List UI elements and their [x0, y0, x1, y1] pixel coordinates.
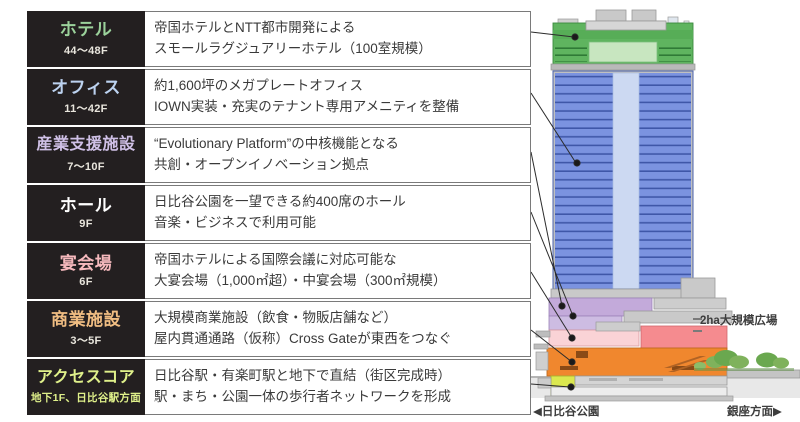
legend-floors: 44〜48F [64, 42, 108, 58]
legend-name: 産業支援施設 [36, 136, 135, 154]
legend-row-industry-support[interactable]: 産業支援施設 7〜10F “Evolutionary Platform”の中核機… [27, 127, 531, 183]
desc-line-2: 大宴会場（1,000㎡超）・中宴会場（300㎡規模） [154, 271, 530, 292]
legend-floors: 7〜10F [67, 158, 105, 174]
legend-table: ホテル 44〜48F 帝国ホテルとNTT都市開発による スモールラグジュアリーホ… [27, 11, 531, 417]
retail-section [534, 344, 727, 376]
legend-name: アクセスコア [37, 369, 135, 387]
desc-line-1: 日比谷公園を一望できる約400席のホール [154, 192, 530, 213]
legend-name: オフィス [51, 78, 121, 98]
caption-hibiya-park: ◀日比谷公園 [533, 403, 599, 419]
infographic-root: ホテル 44〜48F 帝国ホテルとNTT都市開発による スモールラグジュアリーホ… [0, 0, 800, 422]
legend-floors: 9F [79, 218, 92, 230]
plaza-label: 2ha大規模広場 [700, 312, 777, 328]
desc-line-1: 帝国ホテルによる国際会議に対応可能な [154, 250, 530, 271]
desc-line-1: 大規模商業施設（飲食・物販店舗など） [154, 308, 530, 329]
legend-label-hotel: ホテル 44〜48F [27, 11, 145, 67]
desc-line-2: 音楽・ビジネスで利用可能 [154, 213, 530, 234]
legend-row-banquet[interactable]: 宴会場 6F 帝国ホテルによる国際会議に対応可能な 大宴会場（1,000㎡超）・… [27, 243, 531, 299]
desc-line-2: スモールラグジュアリーホテル（100室規模） [154, 39, 530, 60]
legend-name: 宴会場 [60, 254, 113, 274]
legend-label-industry-support: 産業支援施設 7〜10F [27, 127, 145, 183]
legend-row-access-core[interactable]: アクセスコア 地下1F、日比谷駅方面 日比谷駅・有楽町駅と地下で直結（街区完成時… [27, 359, 531, 415]
desc-line-2: 駅・まち・公園一体の歩行者ネットワークを形成 [154, 387, 530, 408]
legend-label-office: オフィス 11〜42F [27, 69, 145, 125]
desc-line-1: “Evolutionary Platform”の中核機能となる [154, 134, 530, 155]
desc-line-2: IOWN実装・充実のテナント専用アメニティを整備 [154, 97, 530, 118]
legend-desc-access-core: 日比谷駅・有楽町駅と地下で直結（街区完成時） 駅・まち・公園一体の歩行者ネットワ… [145, 359, 531, 415]
legend-desc-hall: 日比谷公園を一望できる約400席のホール 音楽・ビジネスで利用可能 [145, 185, 531, 241]
legend-desc-hotel: 帝国ホテルとNTT都市開発による スモールラグジュアリーホテル（100室規模） [145, 11, 531, 67]
access-core-section [538, 376, 733, 401]
legend-desc-office: 約1,600坪のメガプレートオフィス IOWN実装・充実のテナント専用アメニティ… [145, 69, 531, 125]
legend-floors: 地下1F、日比谷駅方面 [31, 390, 141, 405]
hotel-section [551, 21, 695, 70]
legend-floors: 11〜42F [64, 100, 107, 116]
legend-label-banquet: 宴会場 6F [27, 243, 145, 299]
desc-line-2: 共創・オープンイノベーション拠点 [154, 155, 530, 176]
desc-line-2: 屋内貫通通路（仮称）Cross Gateが東西をつなぐ [154, 329, 530, 350]
legend-floors: 3〜5F [70, 332, 101, 348]
legend-desc-retail: 大規模商業施設（飲食・物販店舗など） 屋内貫通通路（仮称）Cross Gateが… [145, 301, 531, 357]
legend-name: 商業施設 [51, 310, 121, 330]
legend-row-office[interactable]: オフィス 11〜42F 約1,600坪のメガプレートオフィス IOWN実装・充実… [27, 69, 531, 125]
legend-floors: 6F [79, 276, 92, 288]
legend-name: ホテル [60, 20, 113, 40]
legend-row-hotel[interactable]: ホテル 44〜48F 帝国ホテルとNTT都市開発による スモールラグジュアリーホ… [27, 11, 531, 67]
desc-line-1: 約1,600坪のメガプレートオフィス [154, 76, 530, 97]
legend-label-hall: ホール 9F [27, 185, 145, 241]
caption-ginza-direction: 銀座方面▶ [727, 403, 782, 419]
legend-row-hall[interactable]: ホール 9F 日比谷公園を一望できる約400席のホール 音楽・ビジネスで利用可能 [27, 185, 531, 241]
desc-line-1: 日比谷駅・有楽町駅と地下で直結（街区完成時） [154, 366, 530, 387]
legend-name: ホール [60, 196, 113, 216]
legend-desc-industry-support: “Evolutionary Platform”の中核機能となる 共創・オープンイ… [145, 127, 531, 183]
office-section [553, 71, 693, 289]
legend-label-retail: 商業施設 3〜5F [27, 301, 145, 357]
legend-row-retail[interactable]: 商業施設 3〜5F 大規模商業施設（飲食・物販店舗など） 屋内貫通通路（仮称）C… [27, 301, 531, 357]
legend-desc-banquet: 帝国ホテルによる国際会議に対応可能な 大宴会場（1,000㎡超）・中宴会場（30… [145, 243, 531, 299]
desc-line-1: 帝国ホテルとNTT都市開発による [154, 18, 530, 39]
legend-label-access-core: アクセスコア 地下1F、日比谷駅方面 [27, 359, 145, 415]
